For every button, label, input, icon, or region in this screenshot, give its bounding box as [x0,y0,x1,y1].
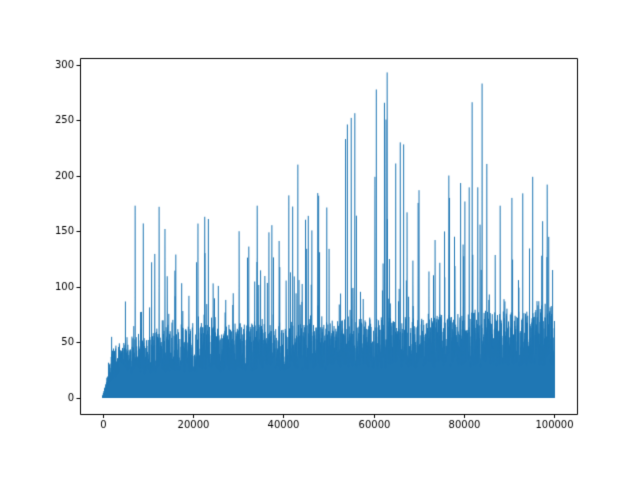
line-chart-canvas [0,0,640,480]
matplotlib-figure [0,0,640,480]
